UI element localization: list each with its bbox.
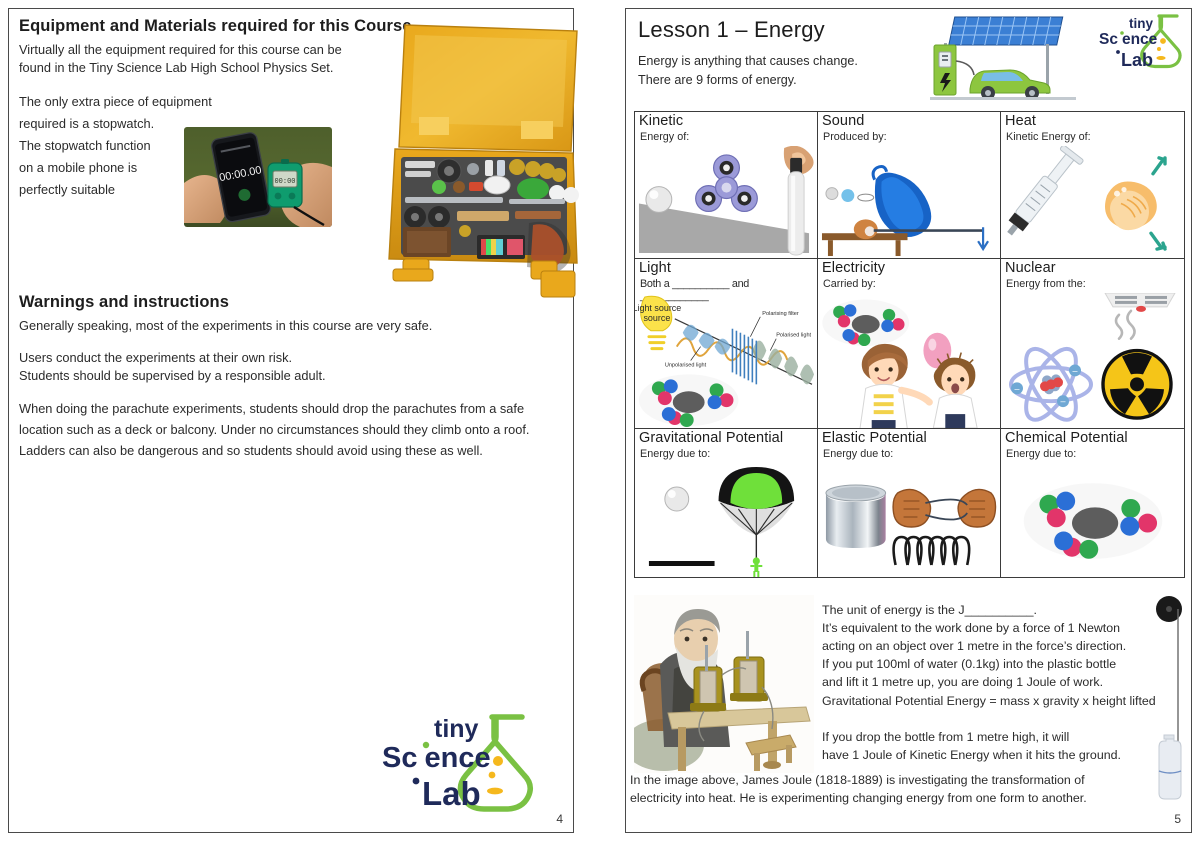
cell-prompt: Energy due to: [1006, 448, 1184, 460]
svg-text:–: – [1060, 396, 1065, 406]
lesson-intro-line2: There are 9 forms of energy. [638, 73, 797, 87]
cell-prompt: Energy due to: [640, 448, 817, 460]
logo-word-ience: ence [1122, 31, 1158, 48]
equipment-p2-line1: The only extra piece of equipment [19, 94, 212, 109]
equipment-p1-line2: found in the Tiny Science Lab High Schoo… [19, 60, 333, 75]
right-page: Lesson 1 – Energy Energy is anything tha… [625, 8, 1192, 833]
svg-text:–: – [1014, 383, 1019, 393]
light-polarisation-illustration: Light source source [635, 293, 817, 428]
sound-illustration [818, 146, 1000, 258]
logo-word-sc: Sc [382, 742, 417, 774]
energy-cell-chemical-potential[interactable]: Chemical Potential Energy due to: [1001, 429, 1184, 577]
logo-word-tiny: tiny [1129, 16, 1153, 31]
equipment-p2-line3: The stopwatch function [19, 138, 151, 153]
svg-text:Scence: Scence [382, 742, 491, 774]
joule-line-5: and lift it 1 metre up, you are doing 1 … [822, 675, 1103, 689]
page-number-left: 4 [556, 812, 563, 826]
polarised-light-label: Polarised light [776, 333, 811, 339]
energy-cell-electricity[interactable]: Electricity Carried by: [818, 259, 1001, 429]
energy-forms-grid: Kinetic Energy of: [634, 111, 1185, 578]
joule-caption: In the image above, James Joule (1818-18… [630, 771, 1150, 807]
logo-word-lab: Lab [422, 775, 481, 812]
tiny-science-lab-logo: tiny Scence Lab [374, 703, 554, 821]
svg-text:source: source [643, 313, 670, 323]
tiny-science-lab-logo: tiny Scence Lab [1096, 11, 1191, 73]
cell-title: Elastic Potential [822, 430, 1000, 446]
warnings-line-3: Students should be supervised by a respo… [19, 368, 326, 383]
lesson-intro-line1: Energy is anything that causes change. [638, 54, 858, 68]
cell-prompt: Produced by: [823, 131, 1000, 143]
physics-set-photo [381, 19, 583, 301]
cell-title: Nuclear [1005, 260, 1184, 276]
joule-line-6: Gravitational Potential Energy = mass x … [822, 694, 1156, 708]
warnings-line-5: location such as a deck or balcony. Unde… [19, 422, 529, 437]
polarising-filter-label: Polarising filter [762, 311, 799, 317]
energy-cell-nuclear[interactable]: Nuclear Energy from the: [1001, 259, 1184, 429]
joule-explanation: The unit of energy is the J__________. I… [822, 601, 1167, 764]
joule-line-7: If you drop the bottle from 1 metre high… [822, 730, 1069, 744]
svg-text:00:00: 00:00 [274, 178, 295, 186]
logo-word-sc: Sc [1099, 31, 1118, 48]
logo-word-ience: ence [424, 742, 490, 774]
light-source-label: Light source [635, 303, 681, 313]
warnings-heading: Warnings and instructions [19, 293, 565, 312]
cell-title: Heat [1005, 113, 1184, 129]
two-page-spread: Equipment and Materials required for thi… [0, 0, 1200, 841]
warnings-line-1: Generally speaking, most of the experime… [19, 317, 565, 335]
warnings-paragraph-3: When doing the parachute experiments, st… [19, 399, 565, 461]
gravitational-potential-illustration [635, 463, 817, 577]
joule-caption-line-2: electricity into heat. He is experimenti… [630, 791, 1087, 805]
svg-text:–: – [1072, 365, 1077, 375]
cell-title: Kinetic [639, 113, 817, 129]
cell-title: Electricity [822, 260, 1000, 276]
solar-car-charging-illustration [926, 11, 1081, 106]
kinetic-illustration [635, 146, 817, 258]
cell-prompt: Kinetic Energy of: [1006, 131, 1184, 143]
electricity-illustration [818, 293, 1000, 428]
pulley-with-bottle-illustration [1147, 595, 1192, 810]
energy-cell-light[interactable]: Light Both a __________ and ____________… [635, 259, 818, 429]
energy-cell-elastic-potential[interactable]: Elastic Potential Energy due to: [818, 429, 1001, 577]
energy-cell-gravitational-potential[interactable]: Gravitational Potential Energy due to: [635, 429, 818, 577]
spacer [19, 385, 565, 399]
spacer [19, 335, 565, 349]
joule-line-8: have 1 Joule of Kinetic Energy when it h… [822, 748, 1121, 762]
heat-illustration [1001, 146, 1184, 258]
logo-word-lab: Lab [1121, 50, 1153, 70]
joule-caption-line-1: In the image above, James Joule (1818-18… [630, 773, 1085, 787]
nuclear-illustration: ––– [1001, 293, 1184, 428]
logo-word-tiny: tiny [434, 715, 479, 743]
warnings-line-4: When doing the parachute experiments, st… [19, 401, 524, 416]
warnings-line-2: Users conduct the experiments at their o… [19, 350, 292, 365]
joule-line-2: It’s equivalent to the work done by a fo… [822, 621, 1120, 635]
james-joule-illustration [634, 595, 814, 773]
warnings-paragraph-2: Users conduct the experiments at their o… [19, 349, 565, 385]
page-number-right: 5 [1174, 812, 1181, 826]
warnings-section: Warnings and instructions Generally spea… [19, 293, 565, 462]
unpolarised-light-label: Unpolarised light [665, 362, 707, 368]
cell-title: Sound [822, 113, 1000, 129]
joule-line-4: If you put 100ml of water (0.1kg) into t… [822, 657, 1116, 671]
cell-title: Chemical Potential [1005, 430, 1184, 446]
stopwatch-photo: 00:00.00 00:00 [184, 127, 332, 227]
elastic-potential-illustration [818, 463, 1000, 577]
joule-line-1: The unit of energy is the J__________. [822, 603, 1037, 617]
cell-prompt: Energy due to: [823, 448, 1000, 460]
cell-title: Gravitational Potential [639, 430, 817, 446]
cell-prompt: Energy from the: [1006, 278, 1184, 290]
joule-line-3: acting on an object over 1 metre in the … [822, 639, 1126, 653]
svg-text:Scence: Scence [1099, 31, 1158, 48]
energy-cell-sound[interactable]: Sound Produced by: [818, 112, 1001, 259]
energy-cell-kinetic[interactable]: Kinetic Energy of: [635, 112, 818, 259]
chemical-potential-illustration [1001, 463, 1184, 577]
left-page: Equipment and Materials required for thi… [8, 8, 574, 833]
cell-prompt: Carried by: [823, 278, 1000, 290]
energy-cell-heat[interactable]: Heat Kinetic Energy of: [1001, 112, 1184, 259]
warnings-line-6: Ladders can also be dangerous and so stu… [19, 443, 483, 458]
cell-prompt: Energy of: [640, 131, 817, 143]
equipment-p1-line1: Virtually all the equipment required for… [19, 42, 342, 57]
equipment-p2-line4: on a mobile phone is [19, 160, 137, 175]
equipment-p2-line5: perfectly suitable [19, 182, 115, 197]
equipment-p2-line2: required is a stopwatch. [19, 116, 154, 131]
cell-title: Light [639, 260, 817, 276]
